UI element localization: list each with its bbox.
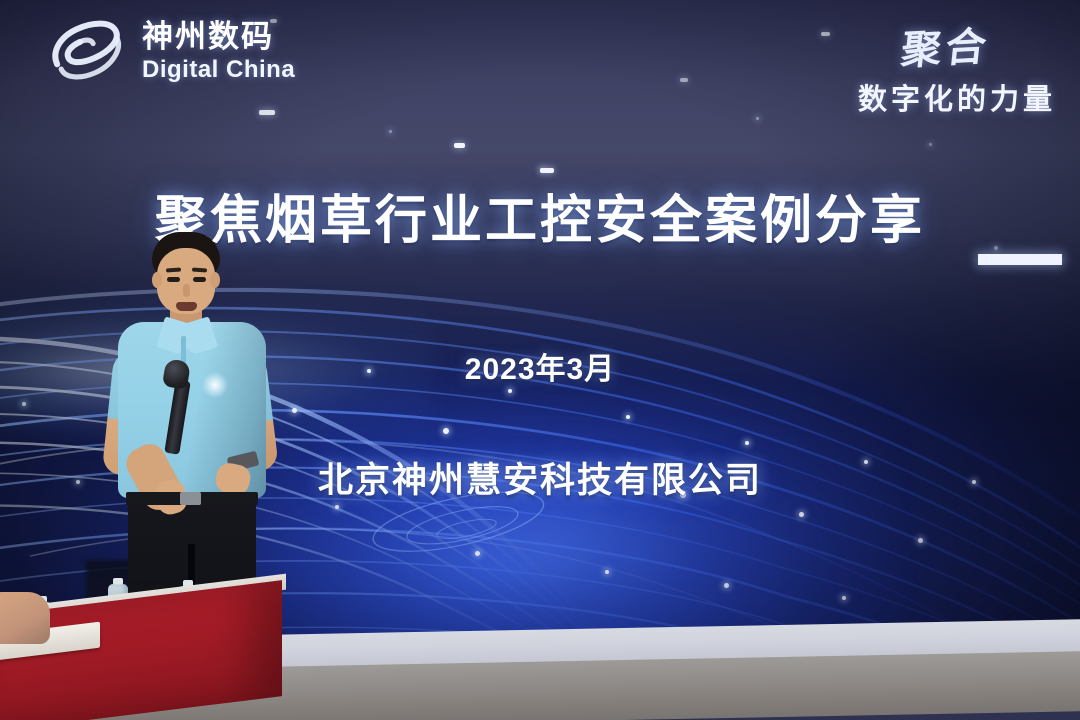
speaker-chest-logo-icon bbox=[202, 372, 228, 398]
digital-china-swirl-icon bbox=[44, 14, 130, 88]
event-logo-headline: 聚合 bbox=[899, 14, 994, 77]
speaker-nose bbox=[183, 284, 190, 297]
brand-logo: 神州数码 Digital China bbox=[44, 14, 295, 88]
panel-table bbox=[0, 582, 290, 720]
brand-name-en: Digital China bbox=[142, 58, 295, 82]
speaker-eye-left bbox=[167, 277, 180, 282]
speaker-ear-left bbox=[152, 272, 162, 288]
event-logo-subline: 数字化的力量 bbox=[858, 76, 1056, 118]
speaker-ear-right bbox=[210, 272, 220, 288]
title-accent-dash bbox=[978, 254, 1062, 265]
speaker-mouth bbox=[176, 302, 197, 311]
brand-text: 神州数码 Digital China bbox=[142, 21, 295, 82]
event-logo: 聚合 数字化的力量 bbox=[858, 16, 1056, 118]
attendee-arm bbox=[0, 592, 50, 644]
speaker-belt-buckle bbox=[180, 492, 201, 505]
speaker-eye-right bbox=[193, 277, 206, 282]
brand-name-cn: 神州数码 bbox=[142, 21, 295, 52]
screenshot-root: 神州数码 Digital China 聚合 数字化的力量 聚焦烟草行业工控安全案… bbox=[0, 0, 1080, 720]
